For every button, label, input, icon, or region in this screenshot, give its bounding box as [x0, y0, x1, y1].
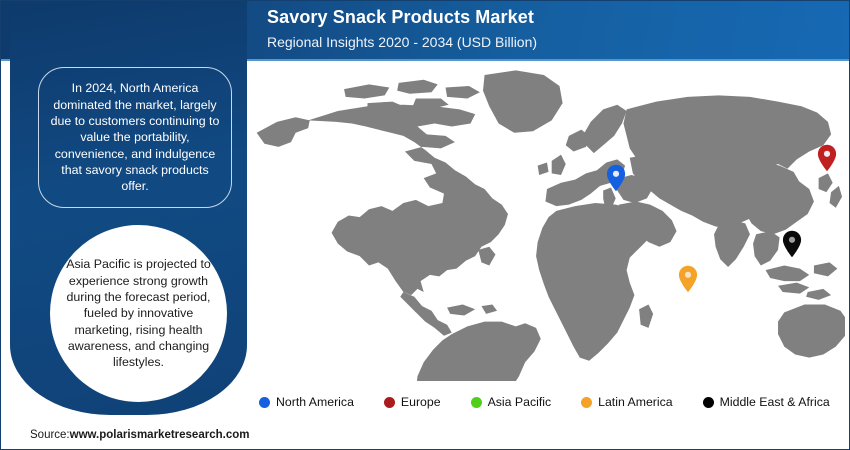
- legend-dot-asia-pacific: [471, 397, 482, 408]
- source-url: www.polarismarketresearch.com: [70, 429, 250, 441]
- legend-label-latin-america: Latin America: [598, 395, 673, 409]
- callout-asia-pacific: Asia Pacific is projected to experience …: [50, 225, 227, 402]
- callout-asia-pacific-text: Asia Pacific is projected to experience …: [56, 256, 221, 370]
- world-map-graphic: [249, 61, 845, 381]
- infographic-canvas: PLARIS MARKET RESEARCH Savory Snack Prod…: [0, 0, 850, 450]
- legend-dot-north-america: [259, 397, 270, 408]
- legend-item-asia-pacific[interactable]: Asia Pacific: [471, 395, 552, 409]
- legend-item-north-america[interactable]: North America: [259, 395, 354, 409]
- legend: North America Europe Asia Pacific Latin …: [259, 393, 839, 411]
- insights-panel: In 2024, North America dominated the mar…: [10, 1, 247, 415]
- source-line: Source:www.polarismarketresearch.com: [30, 429, 249, 441]
- callout-north-america-text: In 2024, North America dominated the mar…: [48, 80, 222, 194]
- map-pin-europe[interactable]: [817, 144, 837, 172]
- legend-dot-europe: [384, 397, 395, 408]
- page-subtitle: Regional Insights 2020 - 2034 (USD Billi…: [267, 34, 537, 50]
- legend-item-middle-east-africa[interactable]: Middle East & Africa: [703, 395, 830, 409]
- landmasses: [257, 70, 845, 381]
- legend-item-europe[interactable]: Europe: [384, 395, 441, 409]
- legend-label-asia-pacific: Asia Pacific: [488, 395, 552, 409]
- callout-north-america: In 2024, North America dominated the mar…: [38, 67, 232, 208]
- legend-label-europe: Europe: [401, 395, 441, 409]
- legend-item-latin-america[interactable]: Latin America: [581, 395, 673, 409]
- map-pin-north-america[interactable]: [606, 164, 626, 192]
- legend-label-north-america: North America: [276, 395, 354, 409]
- legend-dot-latin-america: [581, 397, 592, 408]
- page-title: Savory Snack Products Market: [267, 7, 534, 28]
- map-pin-latin-america[interactable]: [678, 265, 698, 293]
- source-label: Source:: [30, 429, 70, 441]
- legend-label-middle-east-africa: Middle East & Africa: [720, 395, 830, 409]
- legend-dot-middle-east-africa: [703, 397, 714, 408]
- map-pin-middle-east-africa[interactable]: [782, 230, 802, 258]
- world-map-panel: [249, 61, 845, 413]
